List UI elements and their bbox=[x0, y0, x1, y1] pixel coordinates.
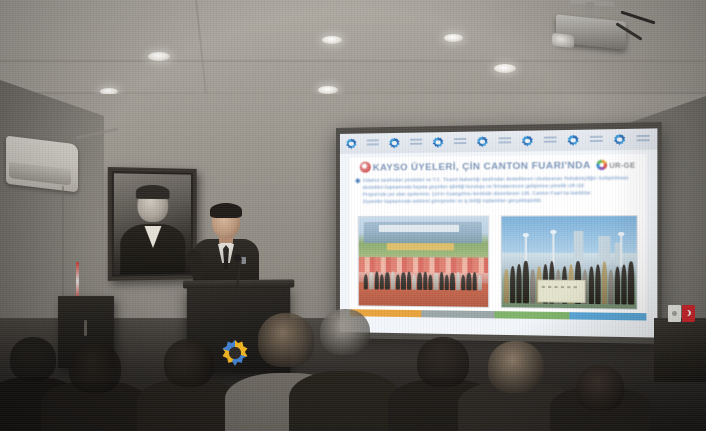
photo-person bbox=[608, 269, 614, 304]
photo-person bbox=[369, 273, 373, 290]
delegation-group-left bbox=[364, 270, 482, 291]
slide-top-gear-ribbon bbox=[340, 128, 657, 154]
attendee-head bbox=[320, 309, 370, 355]
urge-logo-icon bbox=[596, 160, 607, 171]
photo-person bbox=[588, 267, 594, 305]
recessed-light-2 bbox=[322, 36, 342, 44]
photo-person bbox=[472, 271, 476, 290]
gear-icon bbox=[346, 138, 357, 149]
recessed-light-3 bbox=[444, 34, 463, 42]
attendee-right bbox=[470, 319, 562, 431]
microphone-icon bbox=[234, 254, 241, 261]
ceiling bbox=[0, 0, 706, 96]
gear-icon bbox=[432, 137, 443, 148]
canton-fair-entrance-photo bbox=[358, 216, 489, 308]
projection-screen: KAYSO ÜYELERİ, ÇİN CANTON FUARI'NDAUR-GE… bbox=[336, 122, 662, 344]
recessed-light-1 bbox=[148, 52, 170, 61]
attendee-head bbox=[69, 343, 121, 393]
ribbon-dash bbox=[499, 137, 512, 145]
city-tower-1 bbox=[573, 231, 582, 264]
projector-lens bbox=[552, 33, 574, 48]
photo-person bbox=[517, 264, 522, 304]
slide-photo-row bbox=[358, 215, 638, 310]
bullet-marker-icon bbox=[355, 178, 361, 184]
footer-stripe-segment-2 bbox=[421, 310, 494, 318]
ribbon-dash bbox=[410, 139, 422, 147]
photo-person bbox=[510, 266, 515, 303]
photo-person bbox=[445, 275, 449, 290]
photo-person bbox=[396, 275, 400, 290]
attendee-head bbox=[576, 365, 624, 411]
attendee-head bbox=[488, 341, 544, 393]
slide-bullet-text: Projesi'nde yer alan üyelerimiz, Çin'in … bbox=[363, 190, 640, 197]
photo-person bbox=[428, 275, 432, 290]
gear-icon bbox=[477, 136, 488, 147]
photo-person bbox=[478, 275, 482, 291]
ribbon-dash bbox=[590, 136, 603, 145]
photo-person bbox=[622, 264, 628, 305]
recessed-light-4 bbox=[494, 64, 516, 73]
photo-person bbox=[364, 274, 368, 289]
photo-person bbox=[374, 271, 378, 290]
photo-person bbox=[628, 262, 634, 306]
slide-title: KAYSO ÜYELERİ, ÇİN CANTON FUARI'NDAUR-GE bbox=[350, 158, 647, 174]
slide-title-text: KAYSO ÜYELERİ, ÇİN CANTON FUARI'NDA bbox=[373, 160, 591, 174]
photo-person bbox=[385, 273, 389, 290]
photo-person bbox=[407, 271, 411, 290]
gear-icon bbox=[389, 137, 400, 148]
photo-person bbox=[401, 273, 405, 290]
attendee-far-right bbox=[560, 331, 640, 431]
photo-person bbox=[412, 275, 416, 290]
ribbon-dash bbox=[637, 135, 650, 144]
photo-person bbox=[439, 271, 443, 290]
slide-bullet-row: Ziyaretler kapsamında sektörel görüşmele… bbox=[356, 197, 640, 204]
secondary-flag-icon bbox=[668, 305, 681, 322]
photo-person bbox=[380, 274, 384, 289]
portrait-canvas bbox=[114, 173, 191, 274]
air-conditioner bbox=[6, 136, 78, 193]
side-desk bbox=[654, 318, 706, 382]
recessed-light-5 bbox=[318, 86, 338, 94]
attendee-shoulders bbox=[289, 371, 401, 431]
attendee-head bbox=[10, 337, 56, 381]
ceiling-panel-line-2 bbox=[0, 60, 706, 62]
gear-icon bbox=[567, 134, 579, 146]
presentation-slide: KAYSO ÜYELERİ, ÇİN CANTON FUARI'NDAUR-GE… bbox=[340, 128, 657, 337]
attendee-head bbox=[417, 337, 469, 387]
slide-content-area: KAYSO ÜYELERİ, ÇİN CANTON FUARI'NDAUR-GE… bbox=[350, 154, 647, 321]
urge-logo-text: UR-GE bbox=[609, 162, 635, 170]
presenter-hair bbox=[210, 203, 242, 218]
footer-stripe-segment-4 bbox=[569, 312, 646, 320]
attendee-grey-hair bbox=[300, 315, 390, 431]
attendee-center-left bbox=[148, 321, 230, 431]
photo-person bbox=[417, 273, 421, 290]
photo-person bbox=[423, 271, 427, 290]
attendee-head bbox=[164, 339, 214, 387]
photo-person bbox=[523, 261, 528, 304]
conference-photo-scene: KAYSO ÜYELERİ, ÇİN CANTON FUARI'NDAUR-GE… bbox=[0, 0, 706, 431]
kayso-logo-icon bbox=[360, 162, 371, 173]
photo-person bbox=[434, 273, 438, 290]
photo-person bbox=[456, 271, 460, 290]
slide-bullet-list: Odamız tarafından yürütülen ve T.C. Tica… bbox=[356, 175, 640, 205]
portrait-hair bbox=[136, 185, 170, 199]
ribbon-dash bbox=[454, 138, 466, 146]
fair-banner bbox=[387, 243, 454, 249]
ac-cable bbox=[62, 186, 64, 296]
photo-person bbox=[467, 273, 471, 290]
photo-person bbox=[595, 264, 601, 305]
gear-icon bbox=[522, 135, 534, 147]
photo-person bbox=[602, 261, 608, 304]
photo-person bbox=[530, 269, 535, 304]
group-banner bbox=[537, 280, 585, 303]
ribbon-dash bbox=[367, 139, 379, 147]
waterfront-group-photo bbox=[500, 215, 638, 310]
photo-person bbox=[504, 269, 509, 304]
photo-person bbox=[450, 273, 454, 290]
photo-person bbox=[391, 271, 395, 290]
ac-vent bbox=[9, 162, 71, 186]
photo-person bbox=[461, 275, 465, 290]
photo-person bbox=[615, 267, 621, 305]
ataturk-portrait bbox=[108, 167, 197, 281]
ribbon-dash bbox=[544, 136, 557, 145]
slide-bullet-row: Projesi'nde yer alan üyelerimiz, Çin'in … bbox=[356, 190, 640, 197]
turkish-flag-icon bbox=[682, 305, 695, 322]
fair-signboard bbox=[379, 225, 459, 232]
attendee-left bbox=[52, 321, 138, 431]
gear-icon bbox=[614, 134, 626, 146]
slide-bullet-text: Ziyaretler kapsamında sektörel görüşmele… bbox=[363, 197, 640, 204]
